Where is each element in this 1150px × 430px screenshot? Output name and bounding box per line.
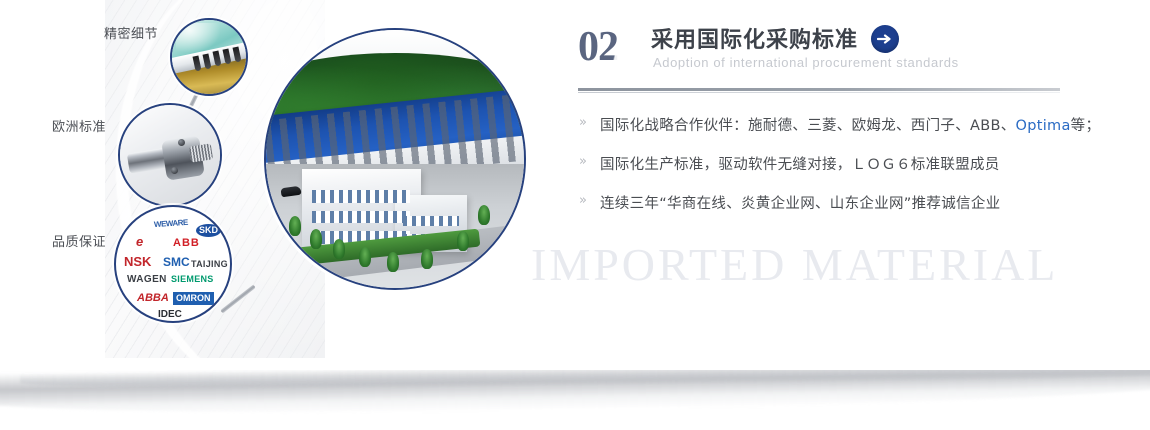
brand-logo-taijing: TAIJING: [191, 260, 228, 269]
bubble-factory-overview[interactable]: [264, 28, 526, 290]
factory-annex-windows: [403, 216, 460, 226]
factory-tree: [359, 247, 371, 267]
brand-logo-skd: SKD: [196, 224, 221, 237]
brand-logo-wagen: WAGEN: [127, 275, 167, 285]
factory-tree: [387, 252, 399, 272]
label-precision: 精密细节: [104, 23, 158, 42]
factory-tree: [478, 205, 490, 225]
brand-logo-e: e: [136, 235, 143, 248]
brand-logo-nsk: NSK: [124, 255, 151, 268]
list-item-text: 连续三年“华商在线、炎黄企业网、山东企业网”推荐诚信企业: [600, 196, 1000, 212]
label-euro: 欧洲标准: [52, 116, 106, 135]
factory-tree: [333, 239, 345, 259]
chevron-bullet-icon: »: [579, 154, 587, 169]
page-title: 采用国际化采购标准: [651, 22, 858, 54]
header-divider: [578, 88, 1060, 93]
section-number: 02: [578, 26, 618, 68]
brand-logo-siemens: SIEMENS: [171, 275, 214, 284]
feature-list: » 国际化战略合作伙伴：施耐德、三菱、欧姆龙、西门子、ABB、Optima等； …: [578, 114, 1078, 213]
factory-office-windows: [312, 211, 410, 224]
factory-tree: [289, 216, 301, 236]
bottom-shadow-band: [0, 370, 1150, 430]
gear-highlight: [176, 23, 220, 53]
list-item: » 国际化战略合作伙伴：施耐德、三菱、欧姆龙、西门子、ABB、Optima等；: [578, 114, 1078, 135]
bubble-brand-logos[interactable]: WEWARE SKD e ABB NSK SMC TAIJING WAGEN S…: [114, 205, 232, 323]
brand-logo-omron: OMRON: [173, 292, 214, 305]
factory-office-windows: [312, 190, 410, 203]
brand-logo-abb: ABB: [173, 238, 200, 249]
watermark-text: IMPORTED MATERIAL: [531, 238, 1058, 291]
list-item-suffix: 等；: [1071, 118, 1101, 134]
screw-thread: [189, 143, 213, 162]
content-column: 02 采用国际化采购标准 Adoption of international p…: [578, 22, 1078, 231]
section-header: 02 采用国际化采购标准 Adoption of international p…: [578, 22, 1078, 84]
factory-tree: [421, 249, 433, 269]
brand-logo-abba: ABBA: [137, 293, 169, 304]
list-item-accent: Optima: [1016, 118, 1071, 134]
list-item: » 国际化生产标准，驱动软件无缝对接，ＬＯＧ６标准联盟成员: [578, 153, 1078, 174]
screw-hole: [171, 167, 178, 174]
bubble-ball-screw[interactable]: [118, 103, 222, 207]
brand-logo-weware: WEWARE: [154, 219, 188, 229]
factory-tree: [457, 231, 469, 251]
promo-banner: 精密细节 欧洲标准 品质保证 WEWARE SKD e ABB NSK SMC …: [0, 0, 1150, 430]
brand-logo-smc: SMC: [163, 256, 190, 268]
arrow-right-icon[interactable]: [871, 25, 899, 53]
list-item: » 连续三年“华商在线、炎黄企业网、山东企业网”推荐诚信企业: [578, 192, 1078, 213]
page-subtitle: Adoption of international procurement st…: [653, 55, 959, 70]
chevron-bullet-icon: »: [579, 193, 587, 208]
list-item-text: 国际化战略合作伙伴：施耐德、三菱、欧姆龙、西门子、ABB、: [600, 118, 1016, 134]
screw-hole: [178, 139, 185, 146]
factory-tree: [310, 229, 322, 249]
label-quality: 品质保证: [52, 231, 106, 250]
chevron-bullet-icon: »: [579, 115, 587, 130]
brand-logo-idec: IDEC: [158, 310, 182, 320]
bubble-gear-detail[interactable]: [170, 18, 248, 96]
list-item-text: 国际化生产标准，驱动软件无缝对接，ＬＯＧ６标准联盟成员: [600, 157, 1000, 173]
